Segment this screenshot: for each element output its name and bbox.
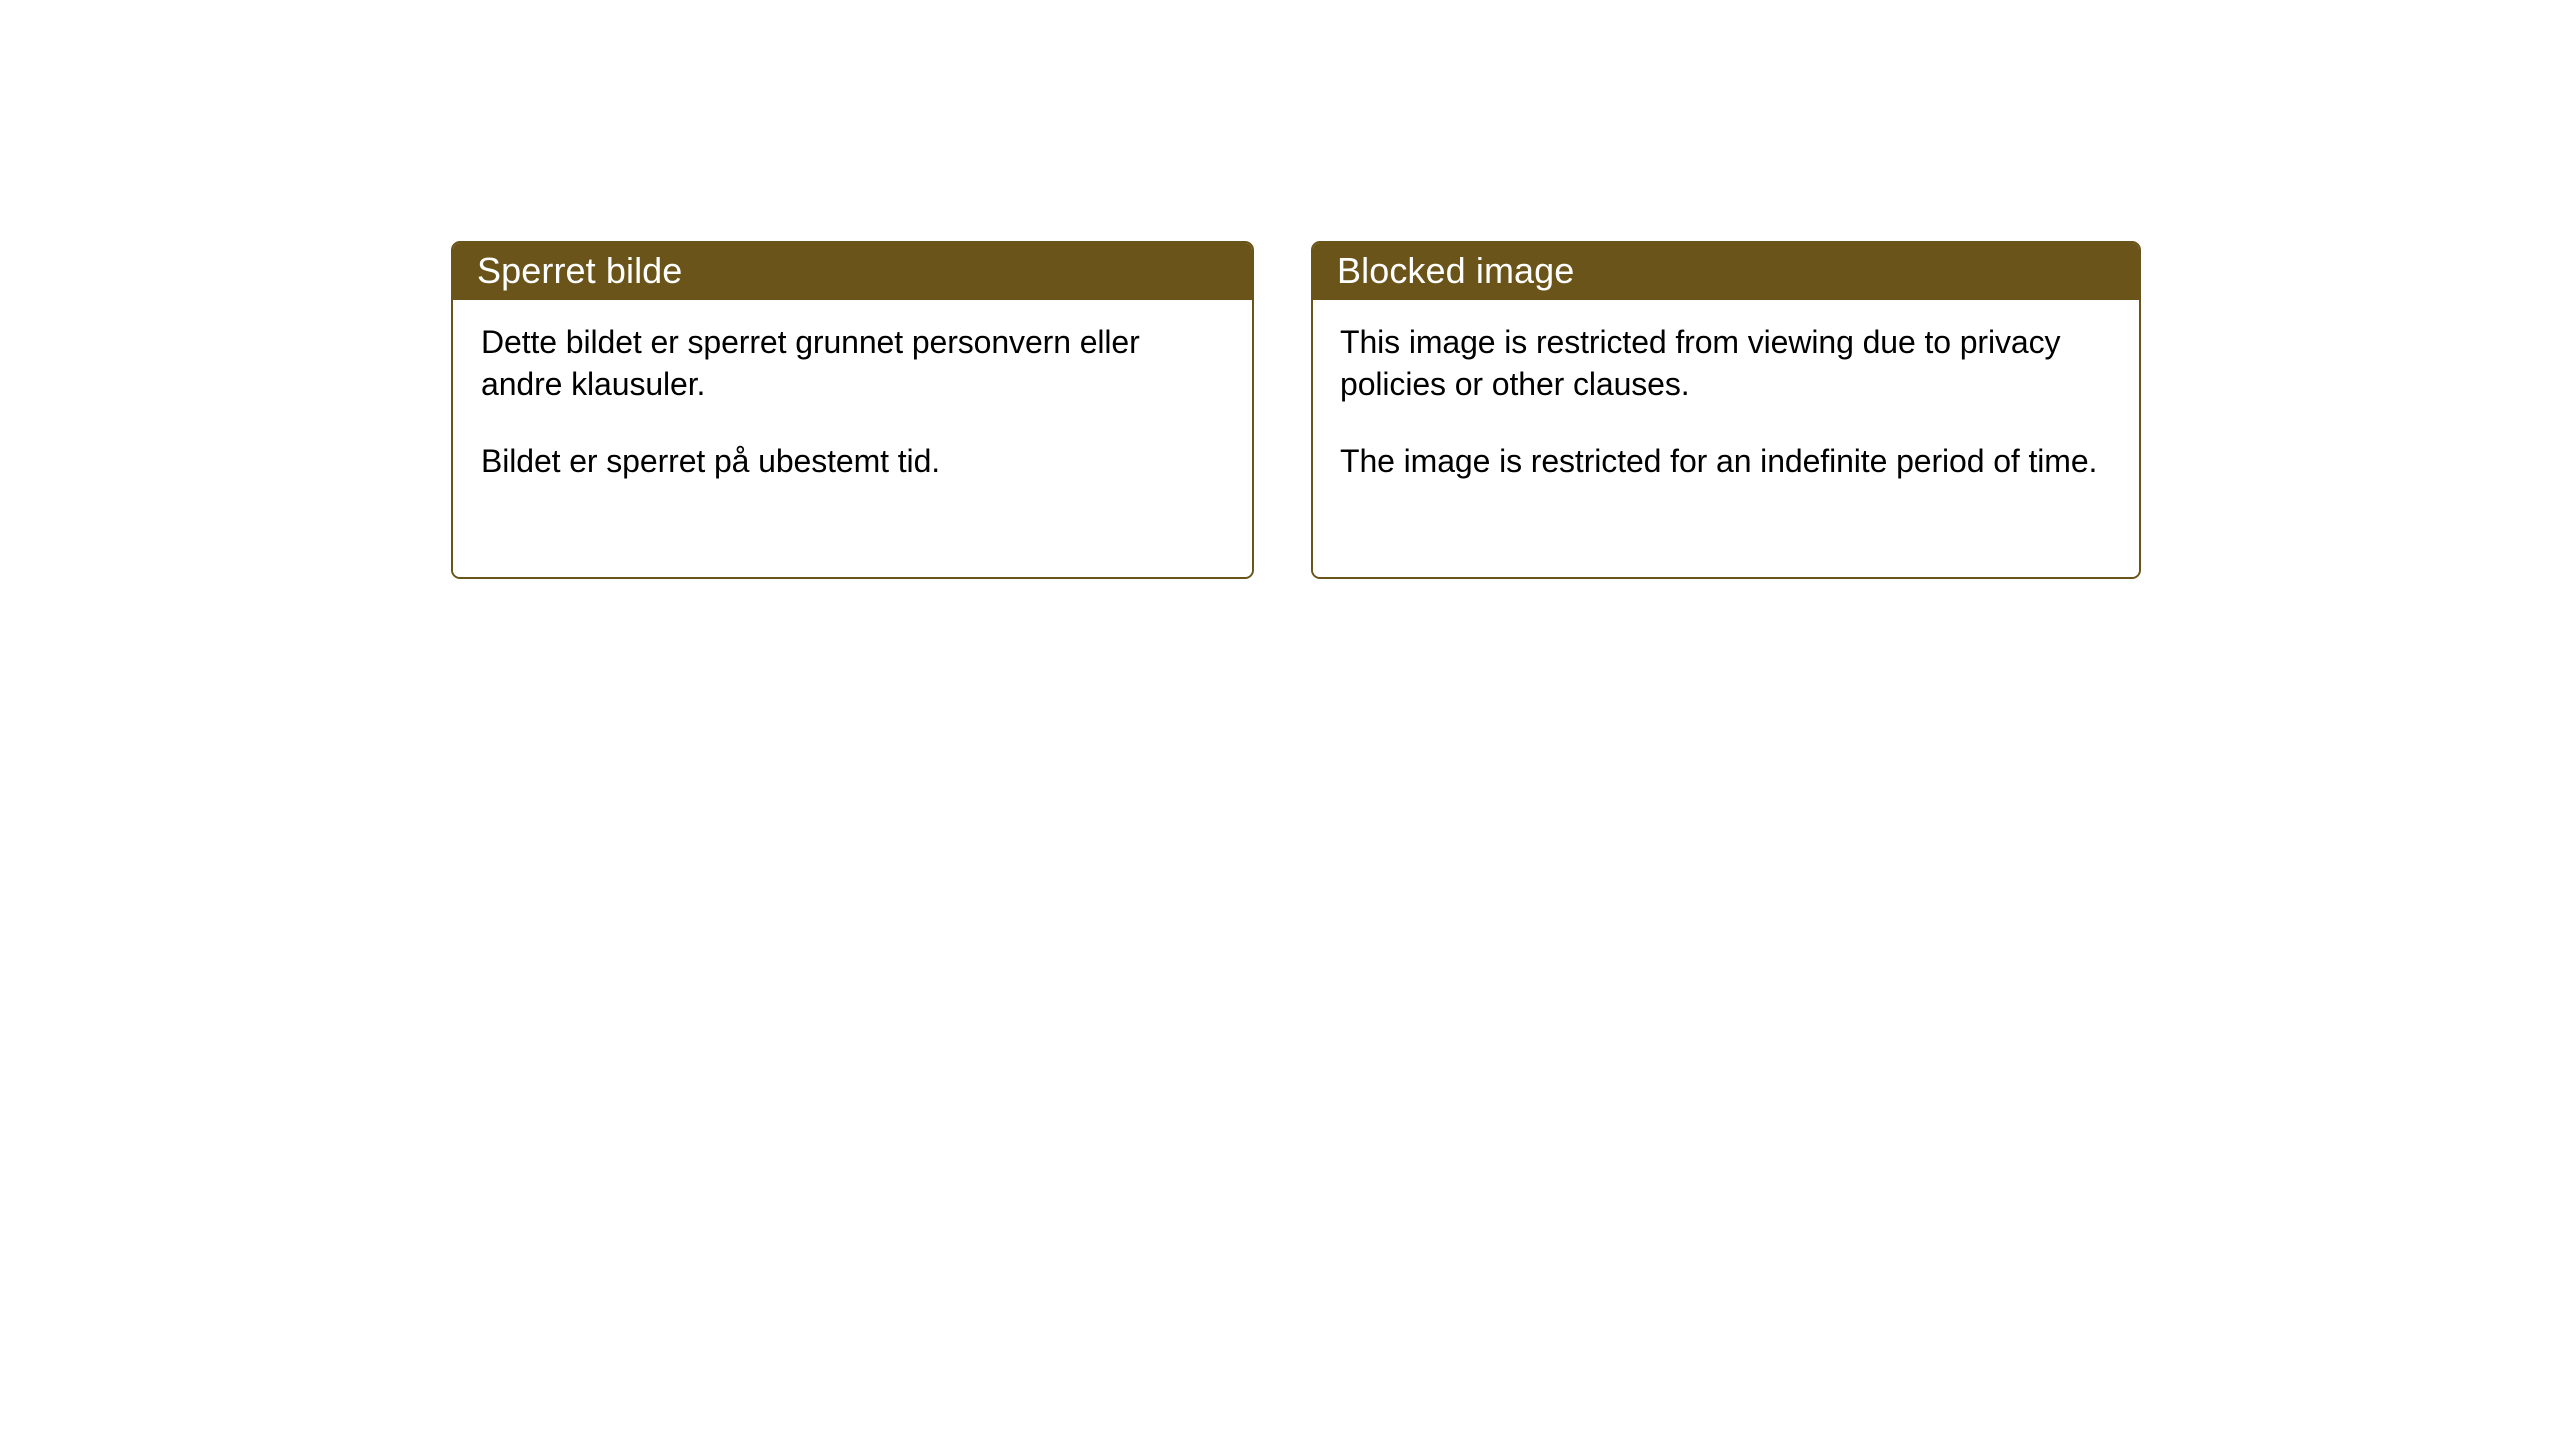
card-body-english: This image is restricted from viewing du… <box>1313 300 2139 577</box>
notice-paragraph: This image is restricted from viewing du… <box>1340 322 2115 405</box>
card-title-english: Blocked image <box>1337 253 1574 289</box>
notice-paragraph: Dette bildet er sperret grunnet personve… <box>481 322 1226 405</box>
notice-paragraph: Bildet er sperret på ubestemt tid. <box>481 441 1226 483</box>
blocked-image-notice-card-norwegian: Sperret bilde Dette bildet er sperret gr… <box>451 241 1254 579</box>
page-root: Sperret bilde Dette bildet er sperret gr… <box>0 0 2560 1440</box>
card-body-norwegian: Dette bildet er sperret grunnet personve… <box>453 300 1252 577</box>
notice-card-group: Sperret bilde Dette bildet er sperret gr… <box>451 241 2141 579</box>
card-header-norwegian: Sperret bilde <box>451 241 1254 300</box>
card-title-norwegian: Sperret bilde <box>477 253 682 289</box>
blocked-image-notice-card-english: Blocked image This image is restricted f… <box>1311 241 2141 579</box>
card-header-english: Blocked image <box>1311 241 2141 300</box>
notice-paragraph: The image is restricted for an indefinit… <box>1340 441 2115 483</box>
